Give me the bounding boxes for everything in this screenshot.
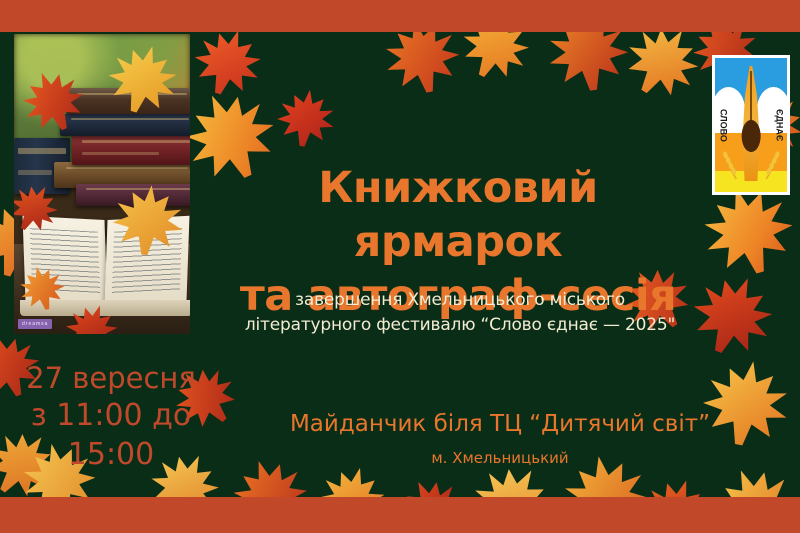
maple-leaf-icon (387, 465, 478, 497)
wheat-ear-icon (718, 141, 740, 187)
bottom-border-band (0, 497, 800, 533)
top-border-band (0, 0, 800, 32)
maple-leaf-icon (271, 83, 341, 153)
subtitle-line-2: літературного фестивалю “Слово єднає — 2… (215, 313, 705, 338)
event-venue: Майданчик біля ТЦ “Дитячий світ” м. Хмел… (255, 410, 745, 467)
subtitle-line-1: завершення Хмельницького міського (215, 288, 705, 313)
poster-canvas: dreamsa (0, 0, 800, 533)
maple-leaf-icon (375, 32, 470, 103)
photo-watermark: dreamsa (18, 319, 52, 329)
venue-city: м. Хмельницький (255, 449, 745, 467)
poster-subtitle: завершення Хмельницького міського літера… (215, 288, 705, 337)
wheat-ear-icon (763, 141, 785, 187)
book-item (72, 135, 190, 165)
pen-nib-vent (742, 120, 761, 152)
event-date: 27 вересня (0, 360, 222, 397)
event-time: з 11:00 до 15:00 (0, 397, 222, 474)
festival-logo: СЛОВО ЄДНАЄ (712, 55, 790, 195)
logo-word-left: СЛОВО (719, 109, 728, 142)
books-autumn-photo: dreamsa (14, 34, 190, 334)
event-date-time: 27 вересня з 11:00 до 15:00 (0, 360, 222, 474)
logo-word-right: ЄДНАЄ (774, 109, 783, 141)
title-line-1: Книжковий ярмарок (208, 162, 708, 270)
maple-leaf-icon (106, 178, 190, 262)
venue-place: Майданчик біля ТЦ “Дитячий світ” (255, 410, 745, 440)
